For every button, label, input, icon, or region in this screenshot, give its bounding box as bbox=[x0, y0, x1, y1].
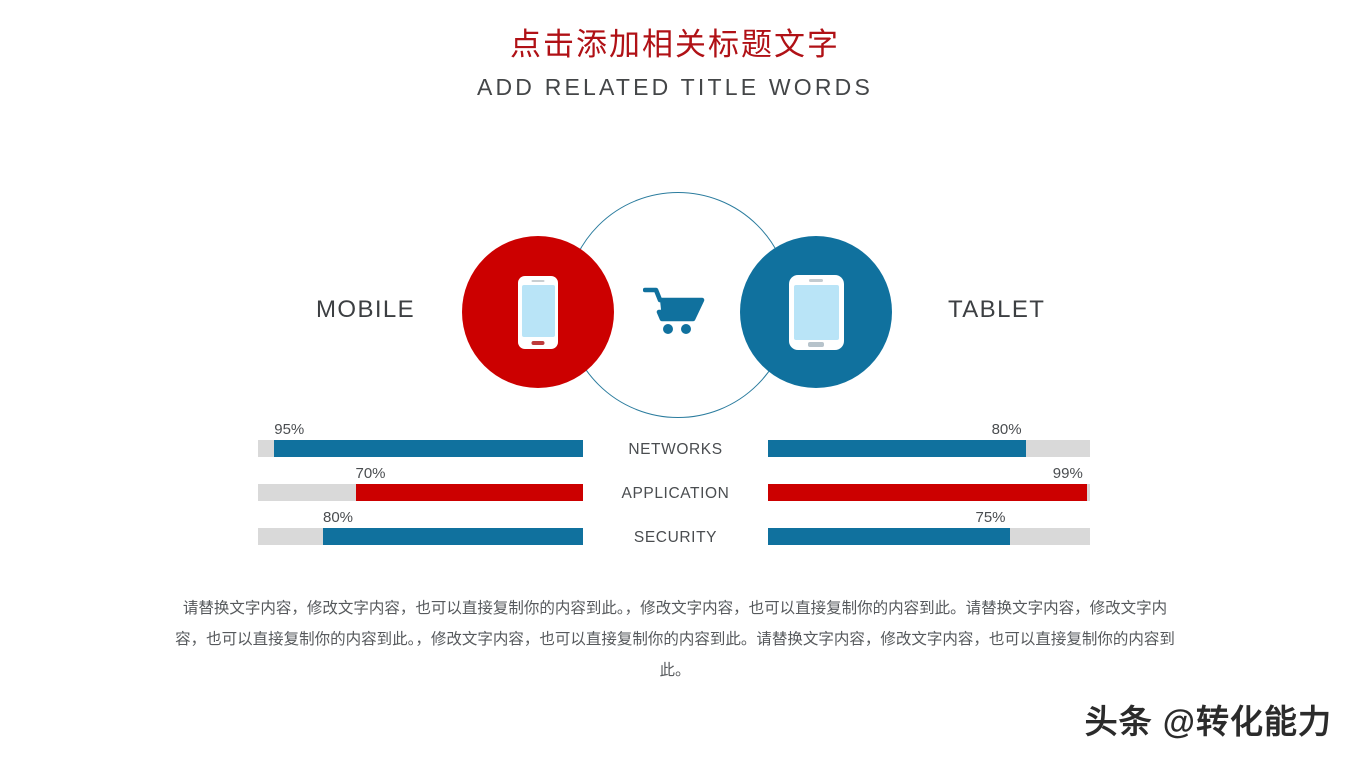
metrics-bars: 95% NETWORKS 80% 70% APPLICATION 99% bbox=[0, 420, 1350, 552]
title-block: 点击添加相关标题文字 ADD RELATED TITLE WORDS bbox=[0, 26, 1350, 101]
smartphone-speaker bbox=[532, 280, 545, 283]
tablet-bar-fill-1 bbox=[768, 484, 1087, 501]
shopping-cart-icon bbox=[643, 285, 709, 337]
tablet-bar-fill-0 bbox=[768, 440, 1026, 457]
bar-row: 95% NETWORKS 80% bbox=[0, 420, 1350, 464]
tablet-bar-track-1: 99% bbox=[768, 484, 1090, 501]
mobile-bar-track-1: 70% bbox=[258, 484, 583, 501]
tablet-circle[interactable] bbox=[740, 236, 892, 388]
page-title-cn: 点击添加相关标题文字 bbox=[0, 26, 1350, 65]
smartphone-icon bbox=[518, 276, 558, 349]
mobile-bar-track-0: 95% bbox=[258, 440, 583, 457]
mobile-bar-value-1: 70% bbox=[356, 465, 386, 482]
bar-category-label-2: SECURITY bbox=[583, 529, 768, 547]
tablet-home-button bbox=[808, 342, 824, 347]
bar-category-label-0: NETWORKS bbox=[583, 441, 768, 459]
tablet-bar-value-0: 80% bbox=[992, 421, 1022, 438]
smartphone-screen bbox=[522, 285, 555, 337]
mobile-label: MOBILE bbox=[316, 296, 415, 324]
tablet-screen bbox=[794, 285, 839, 340]
tablet-bar-value-2: 75% bbox=[976, 509, 1006, 526]
mobile-bar-fill-1 bbox=[356, 484, 584, 501]
mobile-bar-value-2: 80% bbox=[323, 509, 353, 526]
mobile-bar-track-2: 80% bbox=[258, 528, 583, 545]
tablet-bar-fill-2 bbox=[768, 528, 1010, 545]
tablet-icon bbox=[789, 275, 844, 350]
page-title-en: ADD RELATED TITLE WORDS bbox=[0, 74, 1350, 101]
tablet-bar-track-2: 75% bbox=[768, 528, 1090, 545]
slide-canvas: 点击添加相关标题文字 ADD RELATED TITLE WORDS bbox=[0, 0, 1350, 759]
bar-category-label-1: APPLICATION bbox=[583, 485, 768, 503]
tablet-label: TABLET bbox=[948, 296, 1045, 324]
mobile-bar-value-0: 95% bbox=[274, 421, 304, 438]
tablet-bar-track-0: 80% bbox=[768, 440, 1090, 457]
bar-row: 70% APPLICATION 99% bbox=[0, 464, 1350, 508]
body-paragraph: 请替换文字内容，修改文字内容，也可以直接复制你的内容到此。，修改文字内容，也可以… bbox=[170, 593, 1180, 686]
mobile-bar-fill-0 bbox=[274, 440, 583, 457]
tablet-speaker bbox=[809, 279, 823, 282]
mobile-circle[interactable] bbox=[462, 236, 614, 388]
bar-row: 80% SECURITY 75% bbox=[0, 508, 1350, 552]
watermark: 头条 @转化能力 bbox=[1085, 695, 1332, 743]
mobile-bar-fill-2 bbox=[323, 528, 583, 545]
smartphone-home-button bbox=[532, 341, 545, 345]
tablet-bar-value-1: 99% bbox=[1053, 465, 1083, 482]
